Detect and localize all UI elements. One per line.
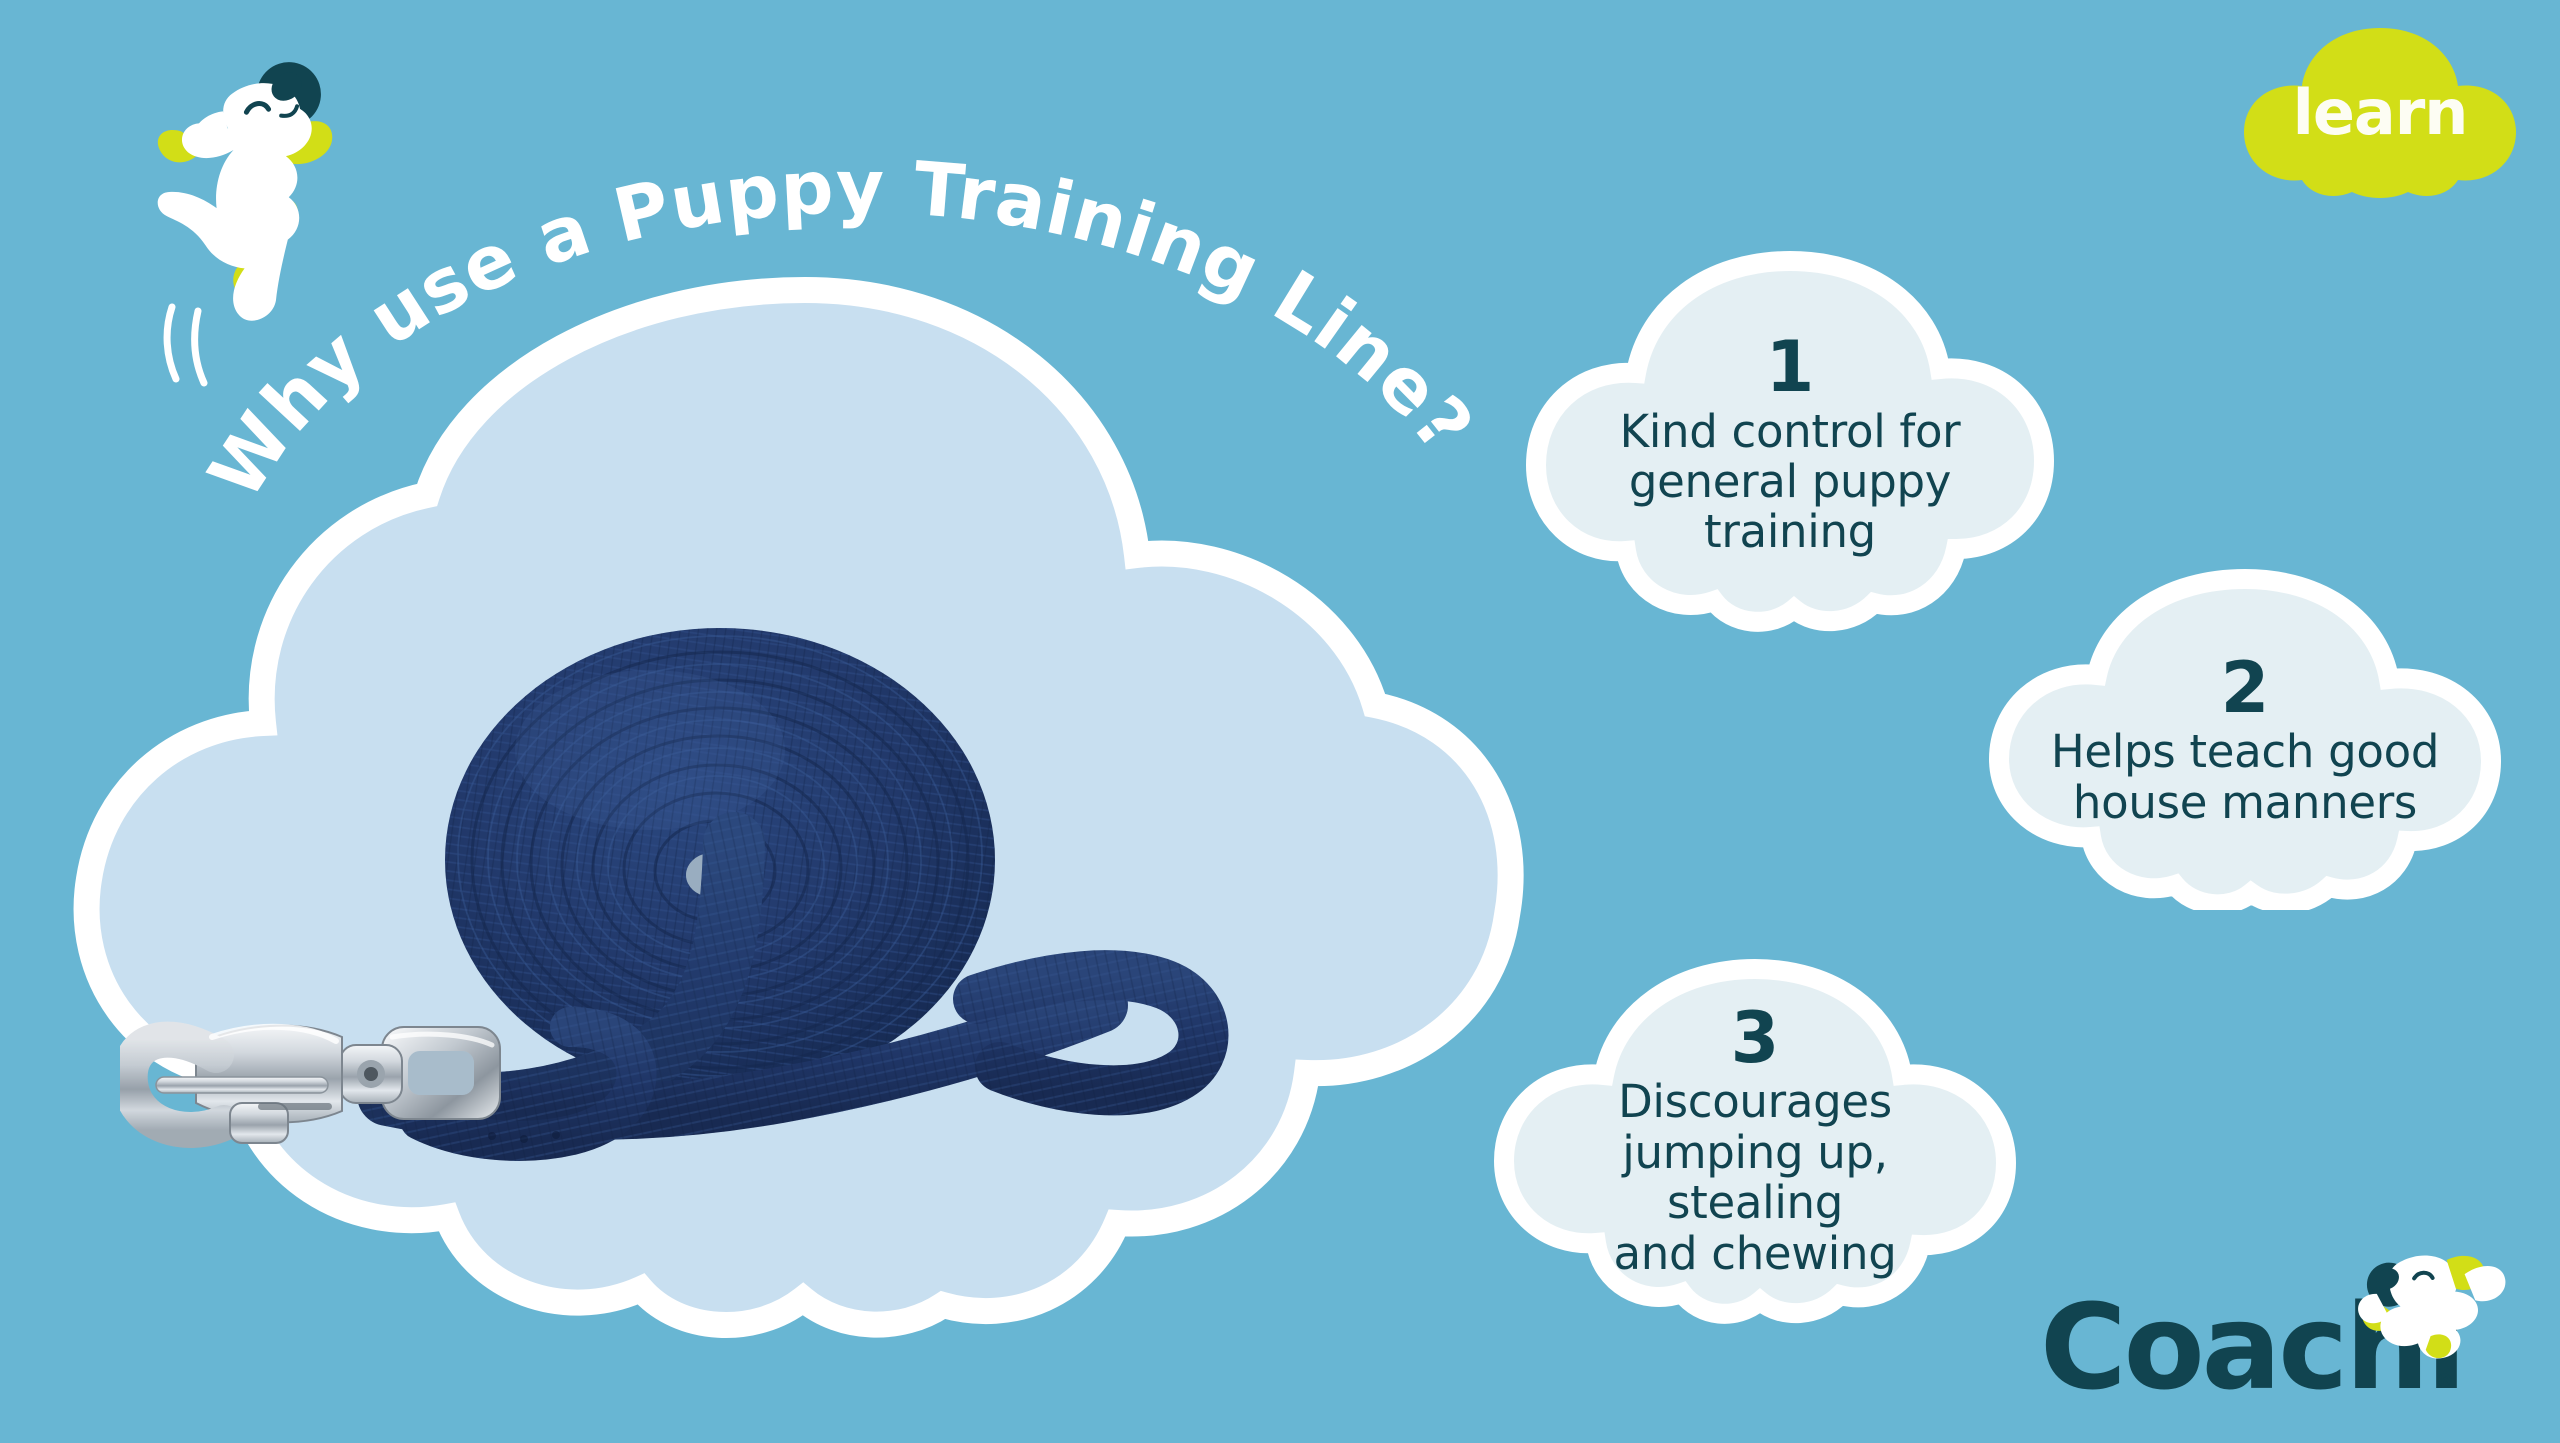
registered-trademark-icon: ® xyxy=(2435,1370,2454,1392)
benefit-cloud-1[interactable]: 1 Kind control for general puppy trainin… xyxy=(1520,245,2060,635)
learn-badge-label: learn xyxy=(2240,20,2520,200)
learn-badge[interactable]: learn xyxy=(2240,20,2520,200)
motion-lines-icon xyxy=(167,307,204,383)
benefit-1-number: 1 xyxy=(1766,334,1815,401)
page-title: Why use a Puppy Training Line? xyxy=(200,130,1500,550)
benefit-cloud-3[interactable]: 3 Discourages jumping up, stealing and c… xyxy=(1490,955,2020,1325)
benefit-cloud-2[interactable]: 2 Helps teach good house manners xyxy=(1985,565,2505,910)
infographic-canvas: Why use a Puppy Training Line? learn 1 K… xyxy=(0,0,2560,1443)
leaping-dog-icon xyxy=(150,55,380,395)
benefit-1-text: Kind control for general puppy training xyxy=(1620,407,1961,558)
benefit-cloud-3-content: 3 Discourages jumping up, stealing and c… xyxy=(1490,955,2020,1325)
benefit-3-text: Discourages jumping up, stealing and che… xyxy=(1534,1077,1976,1279)
coachi-logo[interactable]: Coachi ® xyxy=(2040,1240,2510,1420)
coachi-mascot-icon xyxy=(2350,1240,2520,1360)
benefit-2-number: 2 xyxy=(2221,655,2270,722)
product-image-training-line xyxy=(120,575,1420,1165)
benefit-cloud-2-content: 2 Helps teach good house manners xyxy=(1985,565,2505,910)
benefit-3-number: 3 xyxy=(1731,1005,1780,1072)
page-title-text: Why use a Puppy Training Line? xyxy=(200,144,1489,513)
benefit-2-text: Helps teach good house manners xyxy=(2051,727,2439,828)
benefit-cloud-1-content: 1 Kind control for general puppy trainin… xyxy=(1520,245,2060,635)
